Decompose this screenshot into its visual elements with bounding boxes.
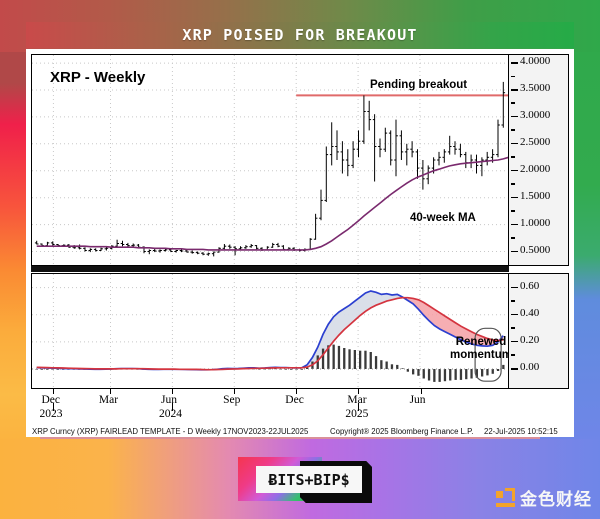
macd-plot-svg <box>32 274 508 388</box>
y-tick-label: 1.0000 <box>520 217 550 229</box>
y-tick-mark <box>511 62 518 64</box>
y-tick-mark <box>511 314 518 316</box>
y-tick-mark <box>511 251 518 253</box>
jinse-logo-icon <box>496 488 515 507</box>
x-axis-month-label: Jun <box>410 394 426 406</box>
x-axis: Dec2023MarJun2024SepDecMar2025Jun <box>31 389 509 425</box>
x-axis-year-separator <box>358 403 359 411</box>
y-tick-label: 3.0000 <box>520 109 550 121</box>
x-axis-month-label: Sep <box>223 394 240 406</box>
y-tick-mark <box>511 354 515 356</box>
footer-copyright-text: Copyright® 2025 Bloomberg Finance L.P. <box>330 427 473 436</box>
y-tick-label: 2.5000 <box>520 136 550 148</box>
y-tick-mark <box>511 76 515 78</box>
y-tick-label: 4.0000 <box>520 55 550 67</box>
x-axis-month-label: Mar <box>347 394 366 406</box>
price-y-axis: 0.50001.00001.50002.00002.50003.00003.50… <box>509 54 569 266</box>
footer-instrument-text: XRP Curncy (XRP) FAIRLEAD TEMPLATE - D W… <box>32 427 308 436</box>
watermark-text: 金色财经 <box>520 485 592 510</box>
banner-title-bar: XRP POISED FOR BREAKOUT <box>26 22 574 48</box>
logo-text: ɃITS+BIP$ <box>268 471 349 489</box>
y-tick-mark <box>511 224 518 226</box>
y-tick-mark <box>511 341 518 343</box>
renewed-momentum-line1: Renewed <box>450 336 512 349</box>
x-axis-year-label: 2023 <box>40 408 63 420</box>
y-tick-mark <box>511 368 518 370</box>
y-tick-mark <box>511 156 515 158</box>
y-tick-label: 3.5000 <box>520 82 550 94</box>
price-panel: XRP - Weekly Pending breakout 40-week MA <box>31 54 509 266</box>
chart-footer: XRP Curncy (XRP) FAIRLEAD TEMPLATE - D W… <box>32 427 568 439</box>
renewed-momentum-annotation: Renewed momentum <box>450 336 512 362</box>
x-axis-year-separator <box>53 403 54 411</box>
y-tick-mark <box>511 170 518 172</box>
macd-y-axis: 0.000.200.400.60 <box>509 273 569 389</box>
pending-breakout-annotation: Pending breakout <box>370 79 467 91</box>
y-tick-mark <box>511 102 515 104</box>
y-tick-label: 0.40 <box>520 307 539 319</box>
panel-divider <box>31 266 509 272</box>
y-tick-mark <box>511 89 518 91</box>
y-tick-label: 2.0000 <box>520 163 550 175</box>
screenshot-root: XRP POISED FOR BREAKOUT XRP - Weekly Pen… <box>0 0 600 519</box>
watermark: 金色财经 <box>496 484 592 510</box>
macd-panel: Renewed momentum <box>31 273 509 389</box>
y-tick-mark <box>511 300 515 302</box>
y-tick-label: 0.20 <box>520 334 539 346</box>
y-tick-label: 0.5000 <box>520 244 550 256</box>
x-axis-year-label: 2024 <box>159 408 182 420</box>
y-tick-mark <box>511 287 518 289</box>
y-tick-mark <box>511 116 518 118</box>
chart-card: XRP - Weekly Pending breakout 40-week MA… <box>26 49 574 437</box>
bits-bips-logo: ɃITS+BIP$ <box>238 455 378 507</box>
y-tick-label: 0.00 <box>520 361 539 373</box>
logo-text-box: ɃITS+BIP$ <box>256 466 362 493</box>
x-axis-year-label: 2025 <box>345 408 368 420</box>
x-axis-month-label: Dec <box>285 394 304 406</box>
y-tick-label: 1.5000 <box>520 190 550 202</box>
y-tick-mark <box>511 237 515 239</box>
y-tick-mark <box>511 197 518 199</box>
x-axis-year-separator <box>172 403 173 411</box>
price-panel-title: XRP - Weekly <box>50 69 145 86</box>
y-tick-label: 0.60 <box>520 280 539 292</box>
y-tick-mark <box>511 210 515 212</box>
banner-title-text: XRP POISED FOR BREAKOUT <box>182 26 417 44</box>
x-axis-month-label: Mar <box>99 394 118 406</box>
y-tick-mark <box>511 129 515 131</box>
renewed-momentum-line2: momentum <box>450 349 512 362</box>
y-tick-mark <box>511 143 518 145</box>
y-tick-mark <box>511 183 515 185</box>
moving-average-annotation: 40-week MA <box>410 212 476 224</box>
x-axis-month-label: Dec <box>42 394 61 406</box>
x-axis-month-label: Jun <box>161 394 177 406</box>
footer-timestamp-text: 22-Jul-2025 10:52:15 <box>484 427 558 436</box>
y-tick-mark <box>511 327 515 329</box>
